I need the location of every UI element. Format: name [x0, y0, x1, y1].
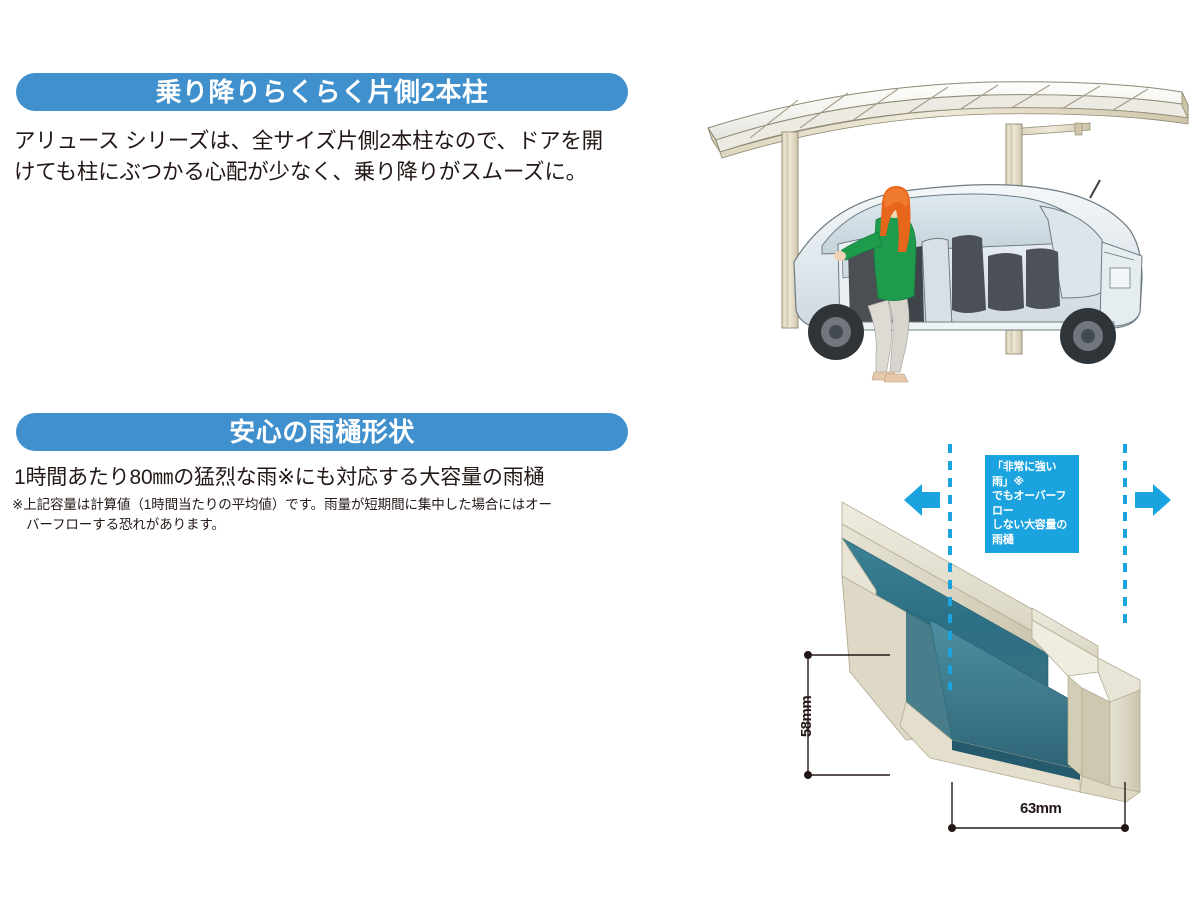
section-heading-pill-easy-entry: 乗り降りらくらく片側2本柱	[16, 73, 628, 111]
gutter-capacity-callout: 「非常に強い雨」※ でもオーバーフロー しない大容量の雨樋	[985, 455, 1079, 553]
footnote-line-1: ※上記容量は計算値（1時間当たりの平均値）です。雨量が短期間に集中した場合にはオ…	[12, 497, 552, 512]
body-line-2: けても柱にぶつかる心配が少なく、乗り降りがスムーズに。	[14, 160, 587, 184]
arrow-left-icon	[904, 484, 940, 516]
page-root: 乗り降りらくらく片側2本柱 アリュース シリーズは、全サイズ片側2本柱なので、ド…	[0, 0, 1200, 900]
arrow-right-icon	[1135, 484, 1171, 516]
section-heading-pill-gutter-shape: 安心の雨樋形状	[16, 413, 628, 451]
section-heading-label: 安心の雨樋形状	[229, 419, 415, 445]
carport-roof	[708, 82, 1188, 158]
dimension-label-height: 58mm	[798, 696, 815, 737]
body-line-1: 1時間あたり80㎜の猛烈な雨※にも対応する大容量の雨樋	[14, 466, 544, 489]
section-heading-label: 乗り降りらくらく片側2本柱	[156, 79, 489, 105]
section-footnote-gutter-shape: ※上記容量は計算値（1時間当たりの平均値）です。雨量が短期間に集中した場合にはオ…	[12, 495, 644, 534]
car-illustration	[794, 180, 1142, 364]
footnote-line-2: バーフローする恐れがあります。	[12, 515, 644, 535]
body-line-1: アリュース シリーズは、全サイズ片側2本柱なので、ドアを開	[14, 129, 603, 153]
section-body-gutter-shape: 1時間あたり80㎜の猛烈な雨※にも対応する大容量の雨樋	[14, 464, 654, 491]
dimension-label-width: 63mm	[1020, 800, 1061, 817]
section-body-easy-entry: アリュース シリーズは、全サイズ片側2本柱なので、ドアを開 けても柱にぶつかる心…	[14, 126, 648, 188]
carport-with-car-illustration	[690, 60, 1200, 390]
